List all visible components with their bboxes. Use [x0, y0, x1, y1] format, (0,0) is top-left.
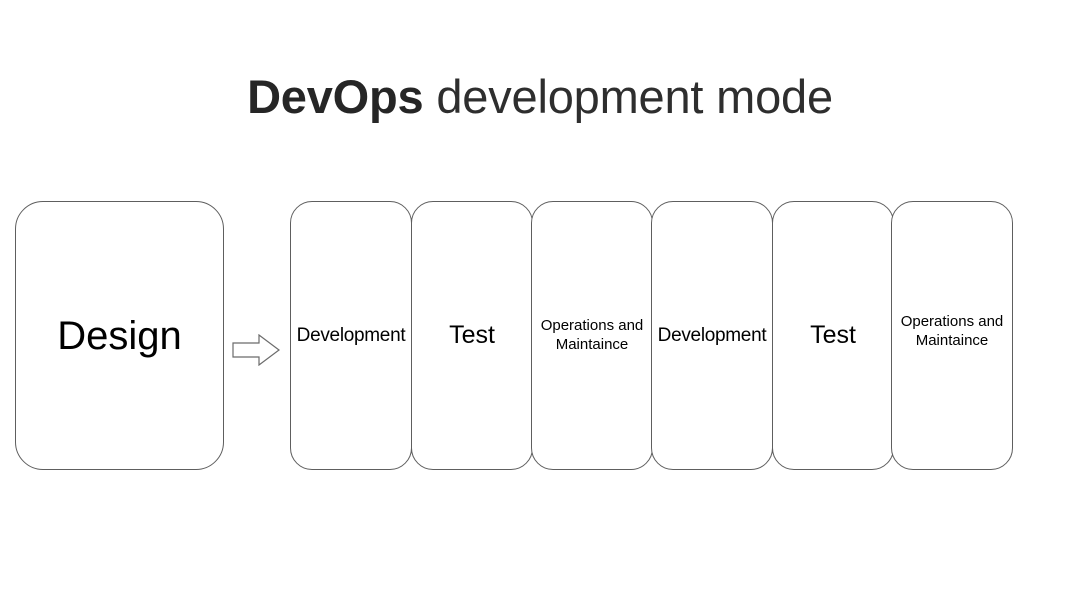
stage-box-test-1[interactable]: Test: [411, 201, 533, 470]
page-title-regular: development mode: [424, 70, 833, 123]
page-title-bold: DevOps: [247, 70, 423, 123]
stage-box-design[interactable]: Design: [15, 201, 224, 470]
stage-box-operations-1[interactable]: Operations and Maintaince: [531, 201, 653, 470]
stage-label-design: Design: [57, 313, 182, 359]
stage-box-test-2[interactable]: Test: [772, 201, 894, 470]
stage-label: Development: [652, 325, 772, 347]
diagram-canvas: DevOps development mode Design Developme…: [0, 0, 1080, 608]
page-title: DevOps development mode: [0, 68, 1080, 126]
stage-label: Operations and Maintaince: [532, 317, 652, 354]
stage-label: Test: [412, 321, 532, 350]
stage-label: Development: [291, 325, 411, 347]
stage-box-operations-2[interactable]: Operations and Maintaince: [891, 201, 1013, 470]
right-block-arrow-icon: [232, 334, 280, 366]
stage-label: Test: [773, 321, 893, 350]
stage-box-development-2[interactable]: Development: [651, 201, 773, 470]
stage-label: Operations and Maintaince: [892, 313, 1012, 350]
stage-box-development-1[interactable]: Development: [290, 201, 412, 470]
